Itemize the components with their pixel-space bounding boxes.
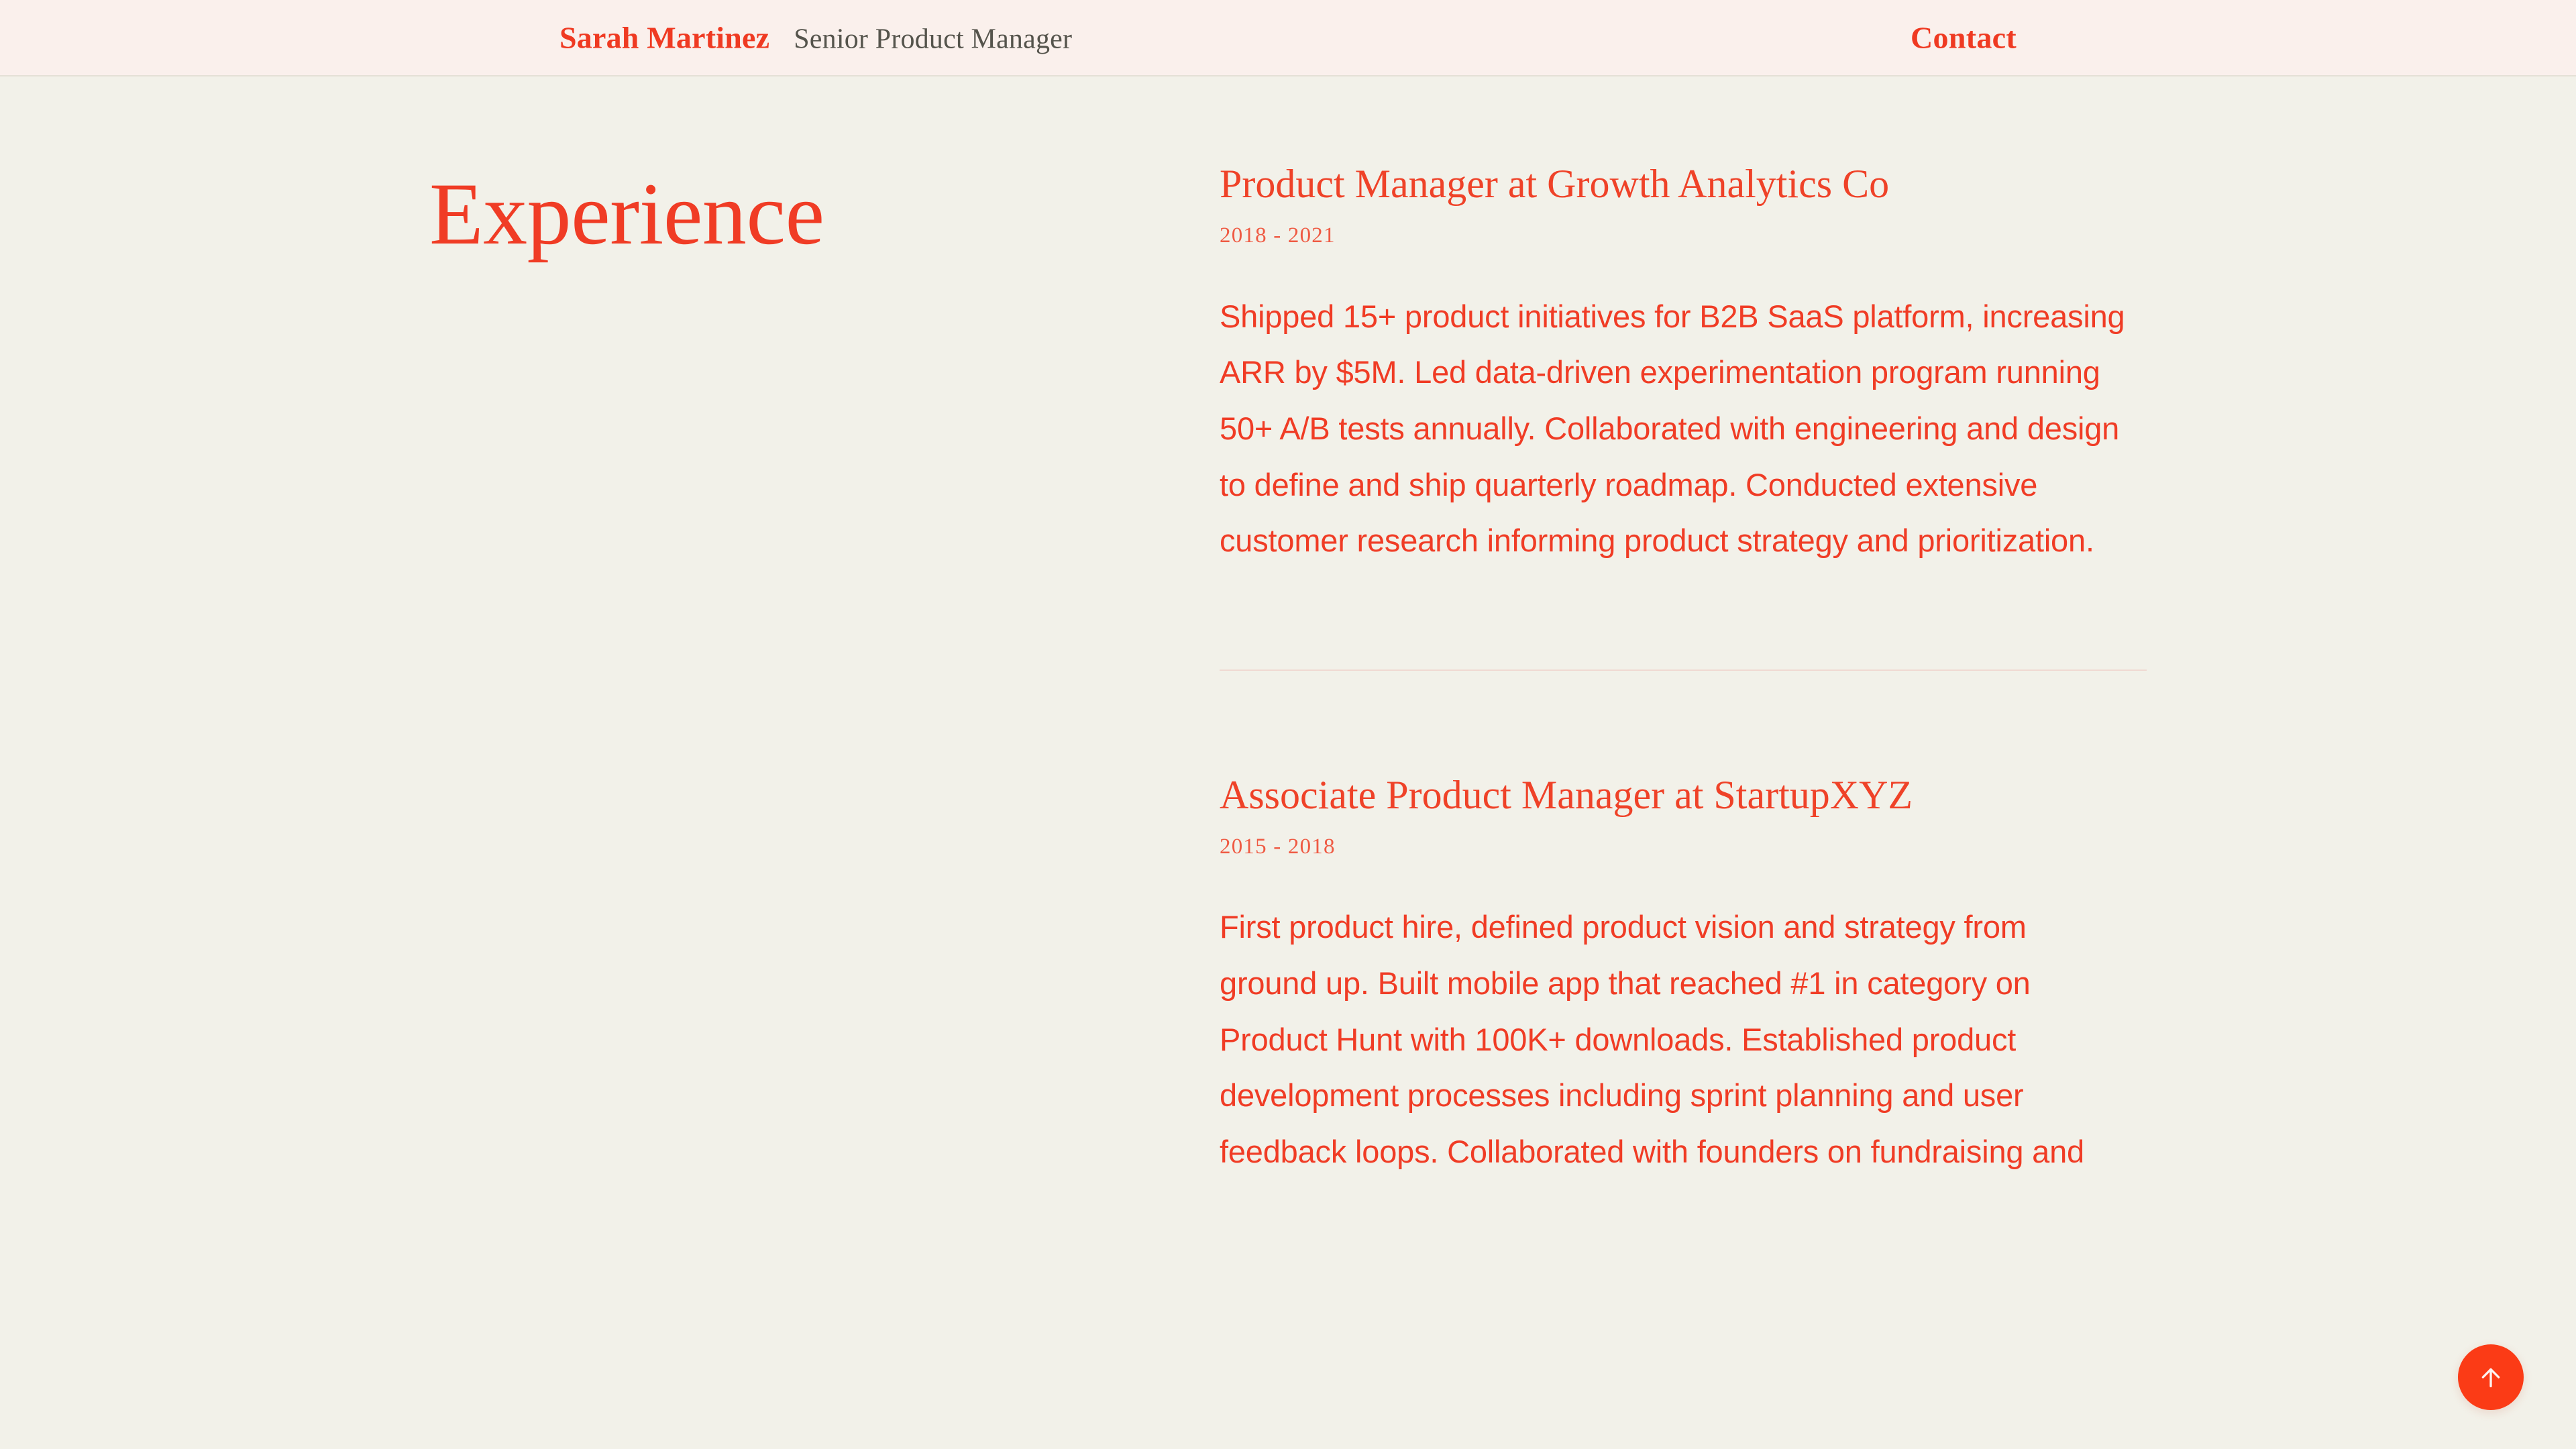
entry-description: Shipped 15+ product initiatives for B2B … — [1220, 288, 2125, 569]
arrow-up-icon — [2477, 1364, 2504, 1391]
experience-entry: Associate Product Manager at StartupXYZ … — [1220, 671, 2147, 1281]
entry-dates: 2015 - 2018 — [1220, 834, 2147, 861]
primary-nav: Contact — [1911, 20, 2017, 56]
brand-name: Sarah Martinez — [559, 20, 769, 56]
brand-role: Senior Product Manager — [794, 23, 1072, 56]
experience-entry-list: engineers, designers, and analysts. Defi… — [1220, 0, 2147, 1281]
entry-dates: 2018 - 2021 — [1220, 223, 2147, 250]
brand[interactable]: Sarah Martinez Senior Product Manager — [559, 20, 1072, 56]
scroll-to-top-button[interactable] — [2458, 1344, 2524, 1410]
nav-link-contact[interactable]: Contact — [1911, 20, 2017, 56]
scroll-area[interactable]: Experience engineers, designers, and ana… — [0, 0, 2576, 1449]
entry-title: Product Manager at Growth Analytics Co — [1220, 160, 2147, 208]
page-title: Experience — [429, 168, 824, 261]
entry-title: Associate Product Manager at StartupXYZ — [1220, 771, 2147, 819]
site-header: Sarah Martinez Senior Product Manager Co… — [0, 0, 2576, 76]
experience-entry: Product Manager at Growth Analytics Co 2… — [1220, 60, 2147, 671]
portfolio-page: Experience engineers, designers, and ana… — [0, 0, 2576, 1449]
entry-description: First product hire, defined product visi… — [1220, 899, 2125, 1179]
